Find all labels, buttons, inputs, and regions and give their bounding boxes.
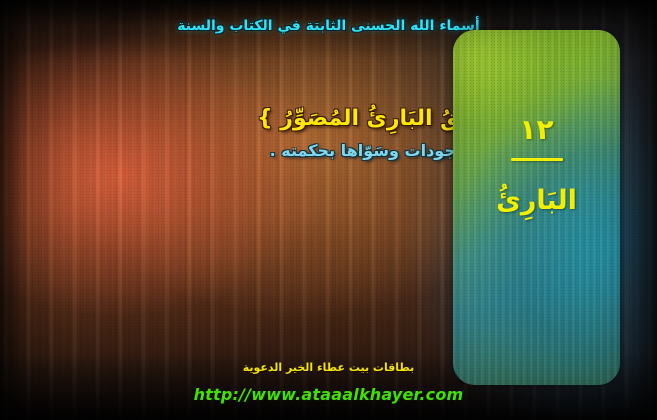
footer-website-url[interactable]: http://www.ataaalkhayer.com xyxy=(0,385,657,404)
divine-name-card: ١٢ البَارِئُ xyxy=(453,30,620,385)
card-canvas: أسماء الله الحسنى الثابتة في الكتاب والس… xyxy=(0,0,657,420)
card-content: ١٢ البَارِئُ xyxy=(453,30,620,385)
footer-credit-arabic: بطاقات بيت عطاء الخير الدعوية xyxy=(0,361,657,374)
footer: بطاقات بيت عطاء الخير الدعوية http://www… xyxy=(0,361,657,404)
card-divine-name: البَارِئُ xyxy=(496,185,577,216)
card-divider-rule xyxy=(511,158,563,161)
card-number: ١٢ xyxy=(519,116,553,144)
